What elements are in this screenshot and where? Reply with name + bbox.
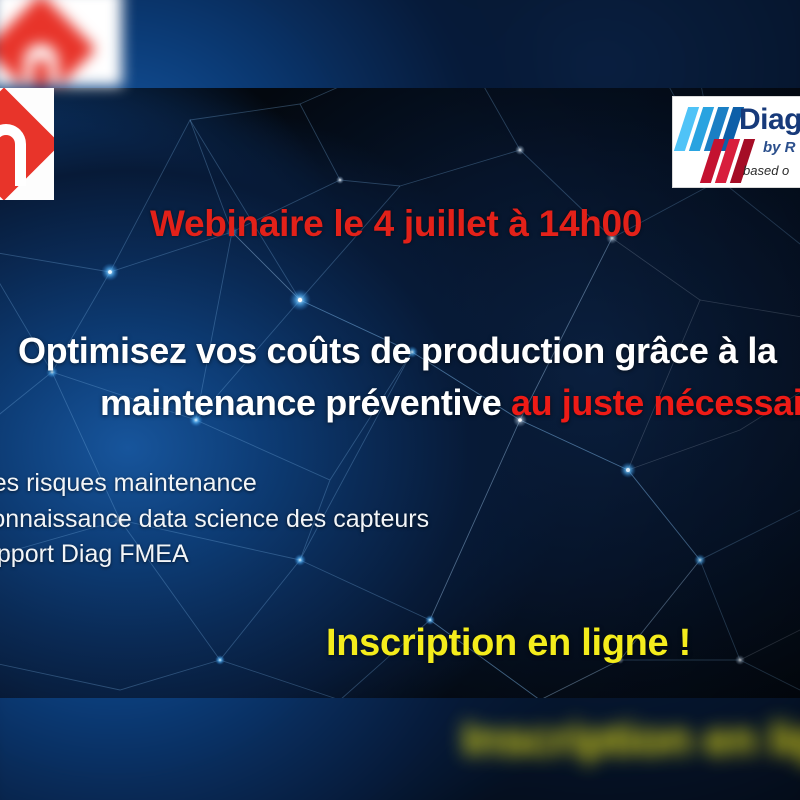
cta-echo-blurred: Inscription en ligne ! xyxy=(462,712,800,766)
title-line-2: maintenance préventive au juste nécessai… xyxy=(18,377,800,429)
title-line-1: Optimisez vos coûts de production grâce … xyxy=(18,325,800,377)
diag-logo-basedon: based o xyxy=(743,163,789,178)
list-item: e des risques maintenance xyxy=(0,466,429,502)
diag-logo-name: Diag xyxy=(739,103,800,137)
webinar-banner-image: Inscription en ligne ! Diag by R based o… xyxy=(0,0,800,800)
brand-logo-blurred-icon xyxy=(0,0,122,86)
feature-list: e des risques maintenance e connaissance… xyxy=(0,466,429,573)
title-line-2-plain: maintenance préventive xyxy=(100,382,511,423)
event-date-headline: Webinaire le 4 juillet à 14h00 xyxy=(150,203,642,245)
brand-logo-icon xyxy=(0,88,54,200)
page-title: Optimisez vos coûts de production grâce … xyxy=(18,325,800,429)
list-item: e connaissance data science des capteurs xyxy=(0,502,429,538)
title-line-2-highlight: au juste nécessaire xyxy=(511,382,800,423)
cta-registration-link[interactable]: Inscription en ligne ! xyxy=(326,622,691,665)
list-item: l support Diag FMEA xyxy=(0,537,429,573)
diag-logo: Diag by R based o xyxy=(672,96,800,188)
diag-logo-by: by R xyxy=(763,139,796,156)
